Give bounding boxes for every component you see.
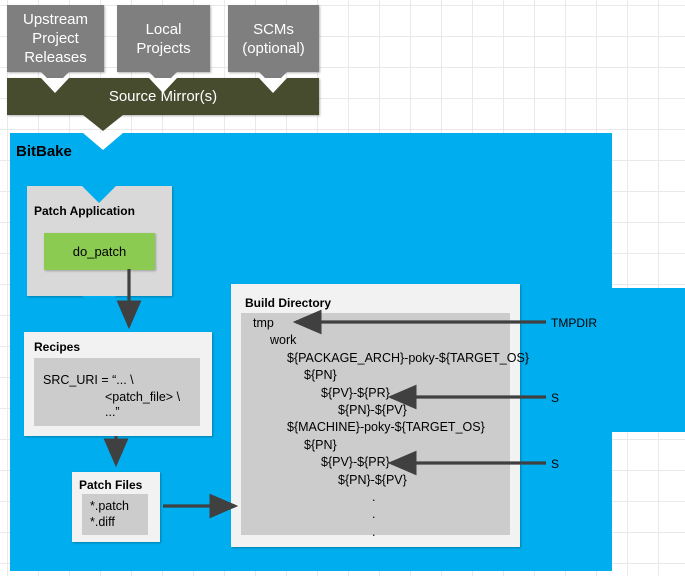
label-tmpdir: TMPDIR [551,316,597,330]
build-dir-tree-line: ${PACKAGE_ARCH}-poky-${TARGET_OS} [287,350,529,368]
build-dir-tree-line: tmp [253,315,274,333]
bitbake-region-extension [608,288,685,432]
build-dir-tree-line: ${PN} [304,367,337,385]
build-dir-tree-line: . [372,489,375,507]
label-s-lower: S [551,457,559,471]
build-dir-tree-line: ${PV}-${PR} [321,385,390,403]
do-patch-label: do_patch [73,244,127,259]
patch-files-title: Patch Files [79,478,142,492]
patch-application-title: Patch Application [34,204,135,218]
source-box-line2: Projects [136,39,190,58]
label-s-upper: S [551,391,559,405]
source-box-scms[interactable]: SCMs (optional) [228,5,319,72]
recipes-code-line-1: SRC_URI = “... \ [43,372,134,389]
build-dir-tree-line: ${PV}-${PR} [321,454,390,472]
source-box-local-projects[interactable]: Local Projects [117,5,210,72]
source-box-line2: Project [23,29,88,48]
recipes-code-line-3: ...” [105,404,120,421]
source-box-line1: Upstream [23,10,88,29]
source-box-line1: SCMs [242,20,305,39]
build-dir-tree-line: ${PN}-${PV} [338,472,407,490]
patch-files-item-1: *.diff [90,514,115,531]
recipes-title: Recipes [34,340,80,354]
build-dir-tree-line: . [372,506,375,524]
build-directory-title: Build Directory [245,296,331,310]
diagram-canvas: BitBake Upstream Project Releases Local … [0,0,685,576]
build-dir-tree-line: ${PN}-${PV} [338,402,407,420]
patch-files-item-0: *.patch [90,498,129,515]
do-patch-task[interactable]: do_patch [44,233,155,270]
build-dir-tree-line: work [270,332,296,350]
mirror-down-tab [83,115,123,131]
build-dir-tree-line: ${PN} [304,437,337,455]
build-dir-tree-line: . [372,524,375,542]
build-dir-tree-line: ${MACHINE}-poky-${TARGET_OS} [287,419,485,437]
source-box-line2: (optional) [242,39,305,58]
source-box-line3: Releases [23,48,88,67]
source-box-line1: Local [136,20,190,39]
source-box-upstream-project-releases[interactable]: Upstream Project Releases [7,5,104,72]
bitbake-label: BitBake [16,143,72,160]
